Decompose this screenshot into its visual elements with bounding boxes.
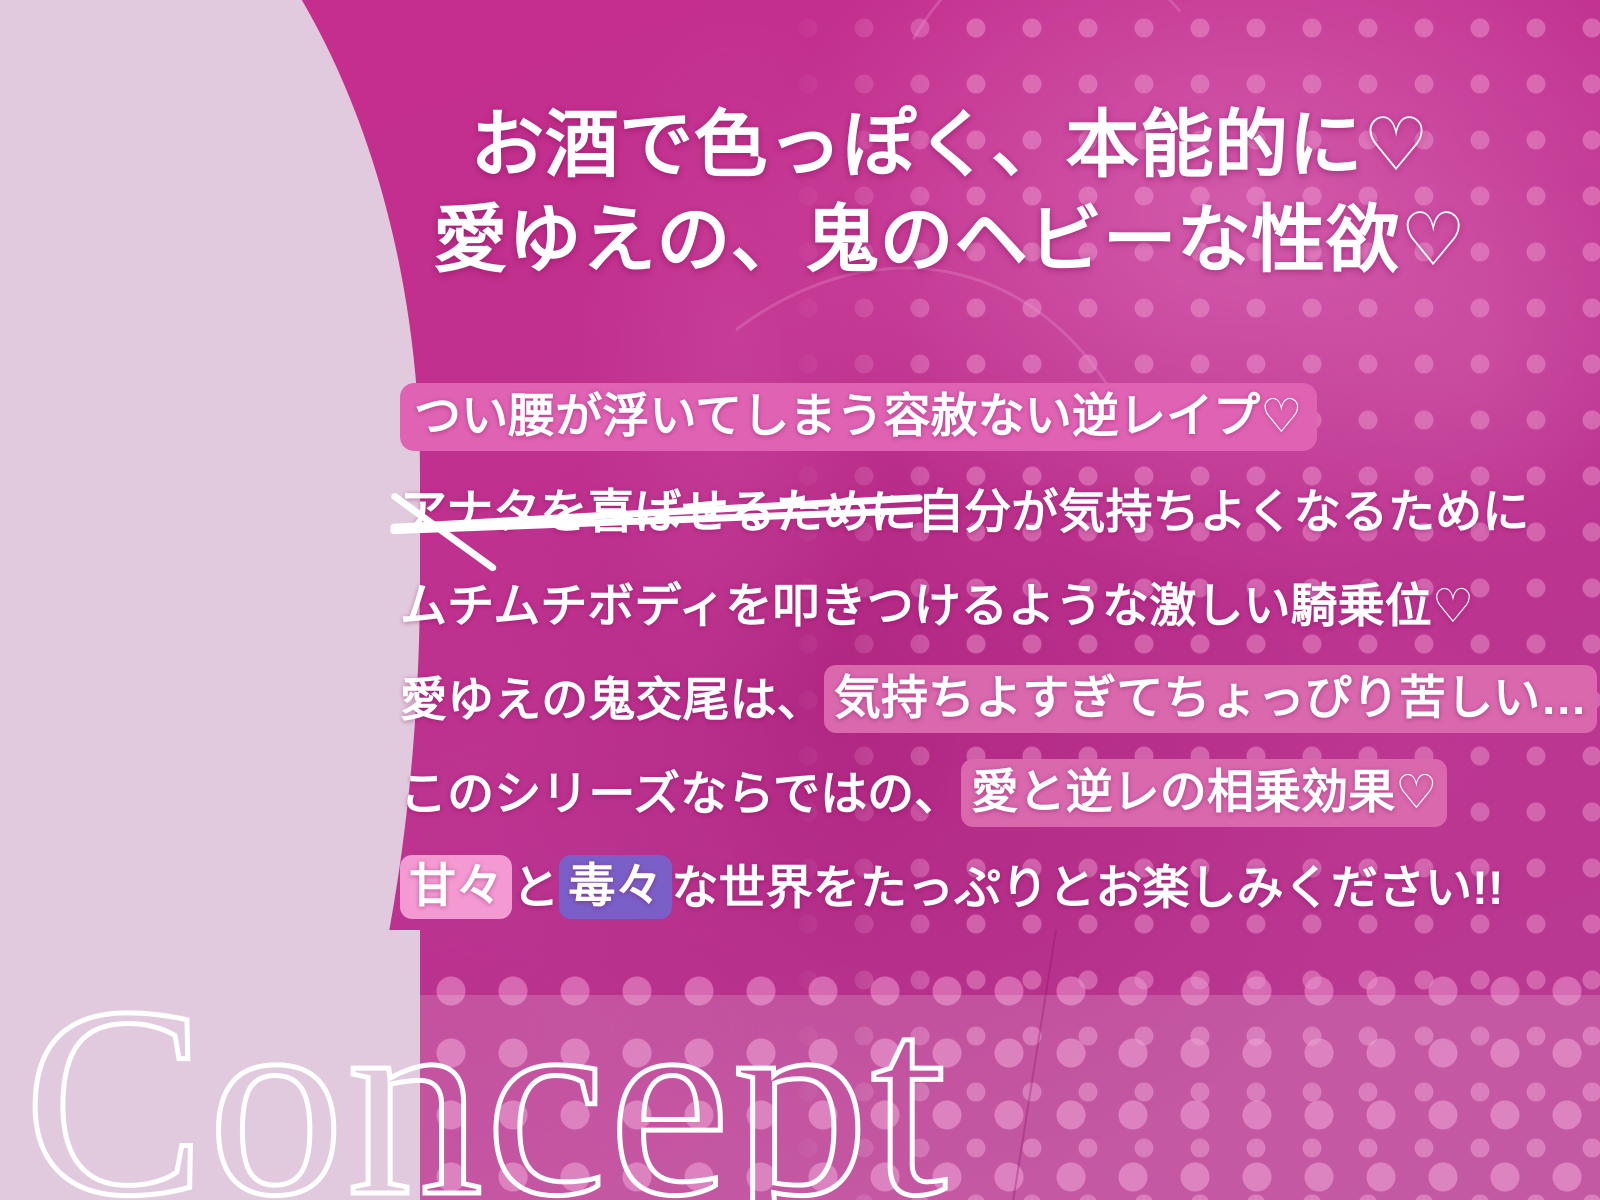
body-line-6-rest: な世界をたっぷりとお楽しみください!! bbox=[672, 864, 1504, 911]
body-line-2-strikethrough: アナタを喜ばせるために bbox=[400, 488, 917, 535]
body-line-6: 甘々と毒々な世界をたっぷりとお楽しみください!! bbox=[400, 840, 1520, 934]
body-line-2-rest: 自分が気持ちよくなるために bbox=[917, 488, 1529, 535]
body-line-5-plain: このシリーズならではの、 bbox=[400, 770, 961, 817]
body-line-6-highlight-sweet: 甘々 bbox=[400, 855, 512, 919]
body-line-4-plain: 愛ゆえの鬼交尾は、 bbox=[400, 676, 824, 723]
body-line-4-highlight: 気持ちよすぎてちょっぴり苦しい… bbox=[824, 665, 1598, 733]
body-line-1-highlight: つい腰が浮いてしまう容赦ない逆レイプ♡ bbox=[400, 383, 1317, 451]
headline-line-2: 愛ゆえの、鬼のヘビーな性欲♡ bbox=[390, 193, 1510, 288]
concept-body: つい腰が浮いてしまう容赦ない逆レイプ♡ アナタを喜ばせるために自分が気持ちよくな… bbox=[400, 370, 1520, 934]
concept-poster: お酒で色っぽく、本能的に♡ 愛ゆえの、鬼のヘビーな性欲♡ つい腰が浮いてしまう容… bbox=[0, 0, 1600, 1200]
body-line-6-mid: と bbox=[512, 864, 559, 911]
body-line-4: 愛ゆえの鬼交尾は、気持ちよすぎてちょっぴり苦しい… bbox=[400, 652, 1520, 746]
page-title: お酒で色っぽく、本能的に♡ 愛ゆえの、鬼のヘビーな性欲♡ bbox=[390, 98, 1510, 287]
body-line-3: ムチムチボディを叩きつけるような激しい騎乗位♡ bbox=[400, 558, 1520, 652]
body-line-2-struck-text: アナタを喜ばせるために bbox=[400, 485, 917, 538]
body-line-2: アナタを喜ばせるために自分が気持ちよくなるために bbox=[400, 464, 1520, 558]
headline-line-1: お酒で色っぽく、本能的に♡ bbox=[390, 98, 1510, 193]
body-line-1: つい腰が浮いてしまう容赦ない逆レイプ♡ bbox=[400, 370, 1520, 464]
body-line-5-highlight: 愛と逆レの相乗効果♡ bbox=[961, 759, 1447, 827]
body-line-3-text: ムチムチボディを叩きつけるような激しい騎乗位♡ bbox=[400, 582, 1474, 629]
body-line-5: このシリーズならではの、愛と逆レの相乗効果♡ bbox=[400, 746, 1520, 840]
concept-wordmark: Concept bbox=[24, 966, 950, 1200]
body-line-6-highlight-poison: 毒々 bbox=[559, 855, 671, 919]
